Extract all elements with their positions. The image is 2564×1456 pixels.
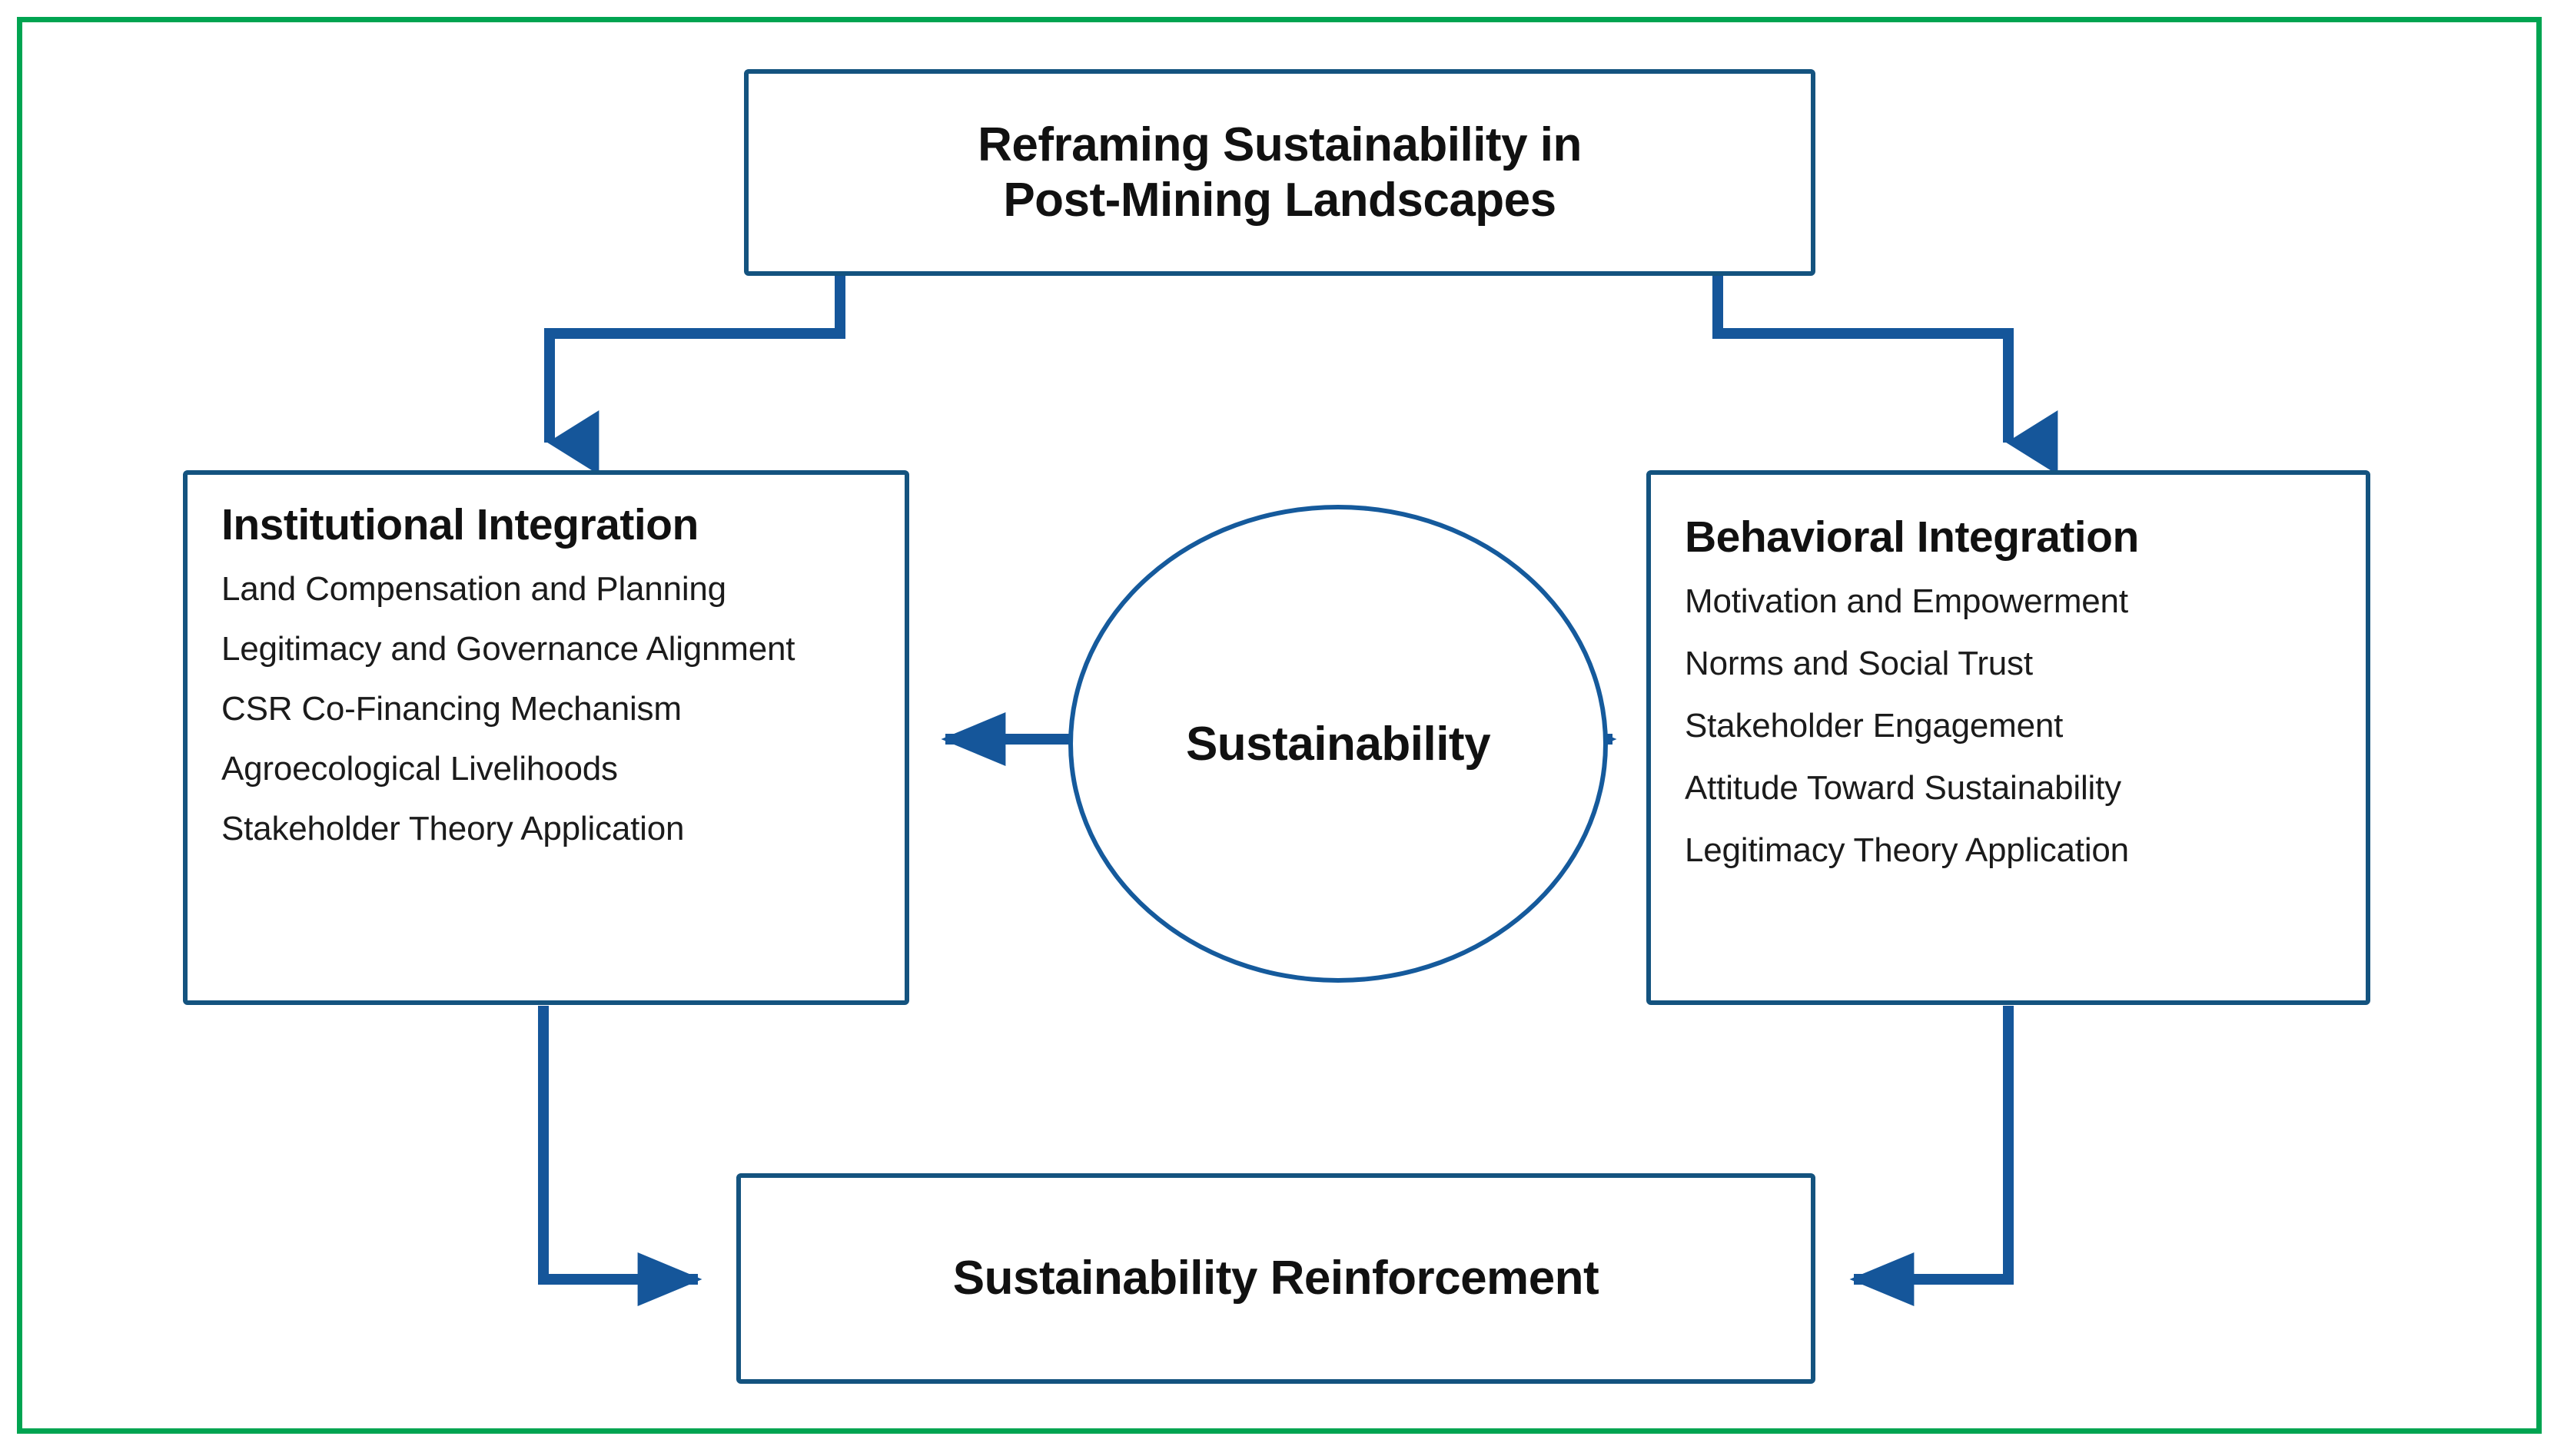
node-left-title: Institutional Integration	[221, 501, 874, 549]
list-item: Motivation and Empowerment	[1685, 582, 2335, 621]
list-item: Land Compensation and Planning	[221, 569, 874, 609]
node-reframing-sustainability[interactable]: Reframing Sustainability in Post-Mining …	[744, 69, 1815, 276]
node-sustainability-hub[interactable]: Sustainability	[1068, 505, 1608, 983]
diagram-canvas: Reframing Sustainability in Post-Mining …	[0, 0, 2564, 1456]
list-item: Legitimacy Theory Application	[1685, 831, 2335, 870]
list-item: Norms and Social Trust	[1685, 644, 2335, 683]
list-item: Agroecological Livelihoods	[221, 749, 874, 788]
node-institutional-integration[interactable]: Institutional Integration Land Compensat…	[183, 470, 909, 1005]
list-item: Attitude Toward Sustainability	[1685, 768, 2335, 808]
institutional-item-list: Land Compensation and Planning Legitimac…	[221, 569, 874, 848]
node-right-title: Behavioral Integration	[1685, 513, 2335, 562]
node-behavioral-integration[interactable]: Behavioral Integration Motivation and Em…	[1646, 470, 2370, 1005]
connector-institutional-to-reinforcement	[543, 1006, 698, 1279]
node-top-title: Reframing Sustainability in Post-Mining …	[978, 118, 1582, 228]
connector-top-to-behavioral	[1718, 276, 2008, 443]
node-bottom-title: Sustainability Reinforcement	[953, 1251, 1599, 1306]
list-item: Stakeholder Theory Application	[221, 809, 874, 848]
connector-top-to-institutional	[550, 276, 840, 443]
node-top-title-line-1: Reframing Sustainability in	[978, 118, 1582, 173]
list-item: Legitimacy and Governance Alignment	[221, 629, 874, 668]
list-item: Stakeholder Engagement	[1685, 706, 2335, 745]
node-top-title-line-2: Post-Mining Landscapes	[978, 173, 1582, 228]
node-sustainability-reinforcement[interactable]: Sustainability Reinforcement	[736, 1173, 1815, 1384]
connector-behavioral-to-reinforcement	[1854, 1006, 2008, 1279]
list-item: CSR Co-Financing Mechanism	[221, 689, 874, 728]
hub-label: Sustainability	[1186, 717, 1490, 771]
behavioral-item-list: Motivation and Empowerment Norms and Soc…	[1685, 582, 2335, 870]
